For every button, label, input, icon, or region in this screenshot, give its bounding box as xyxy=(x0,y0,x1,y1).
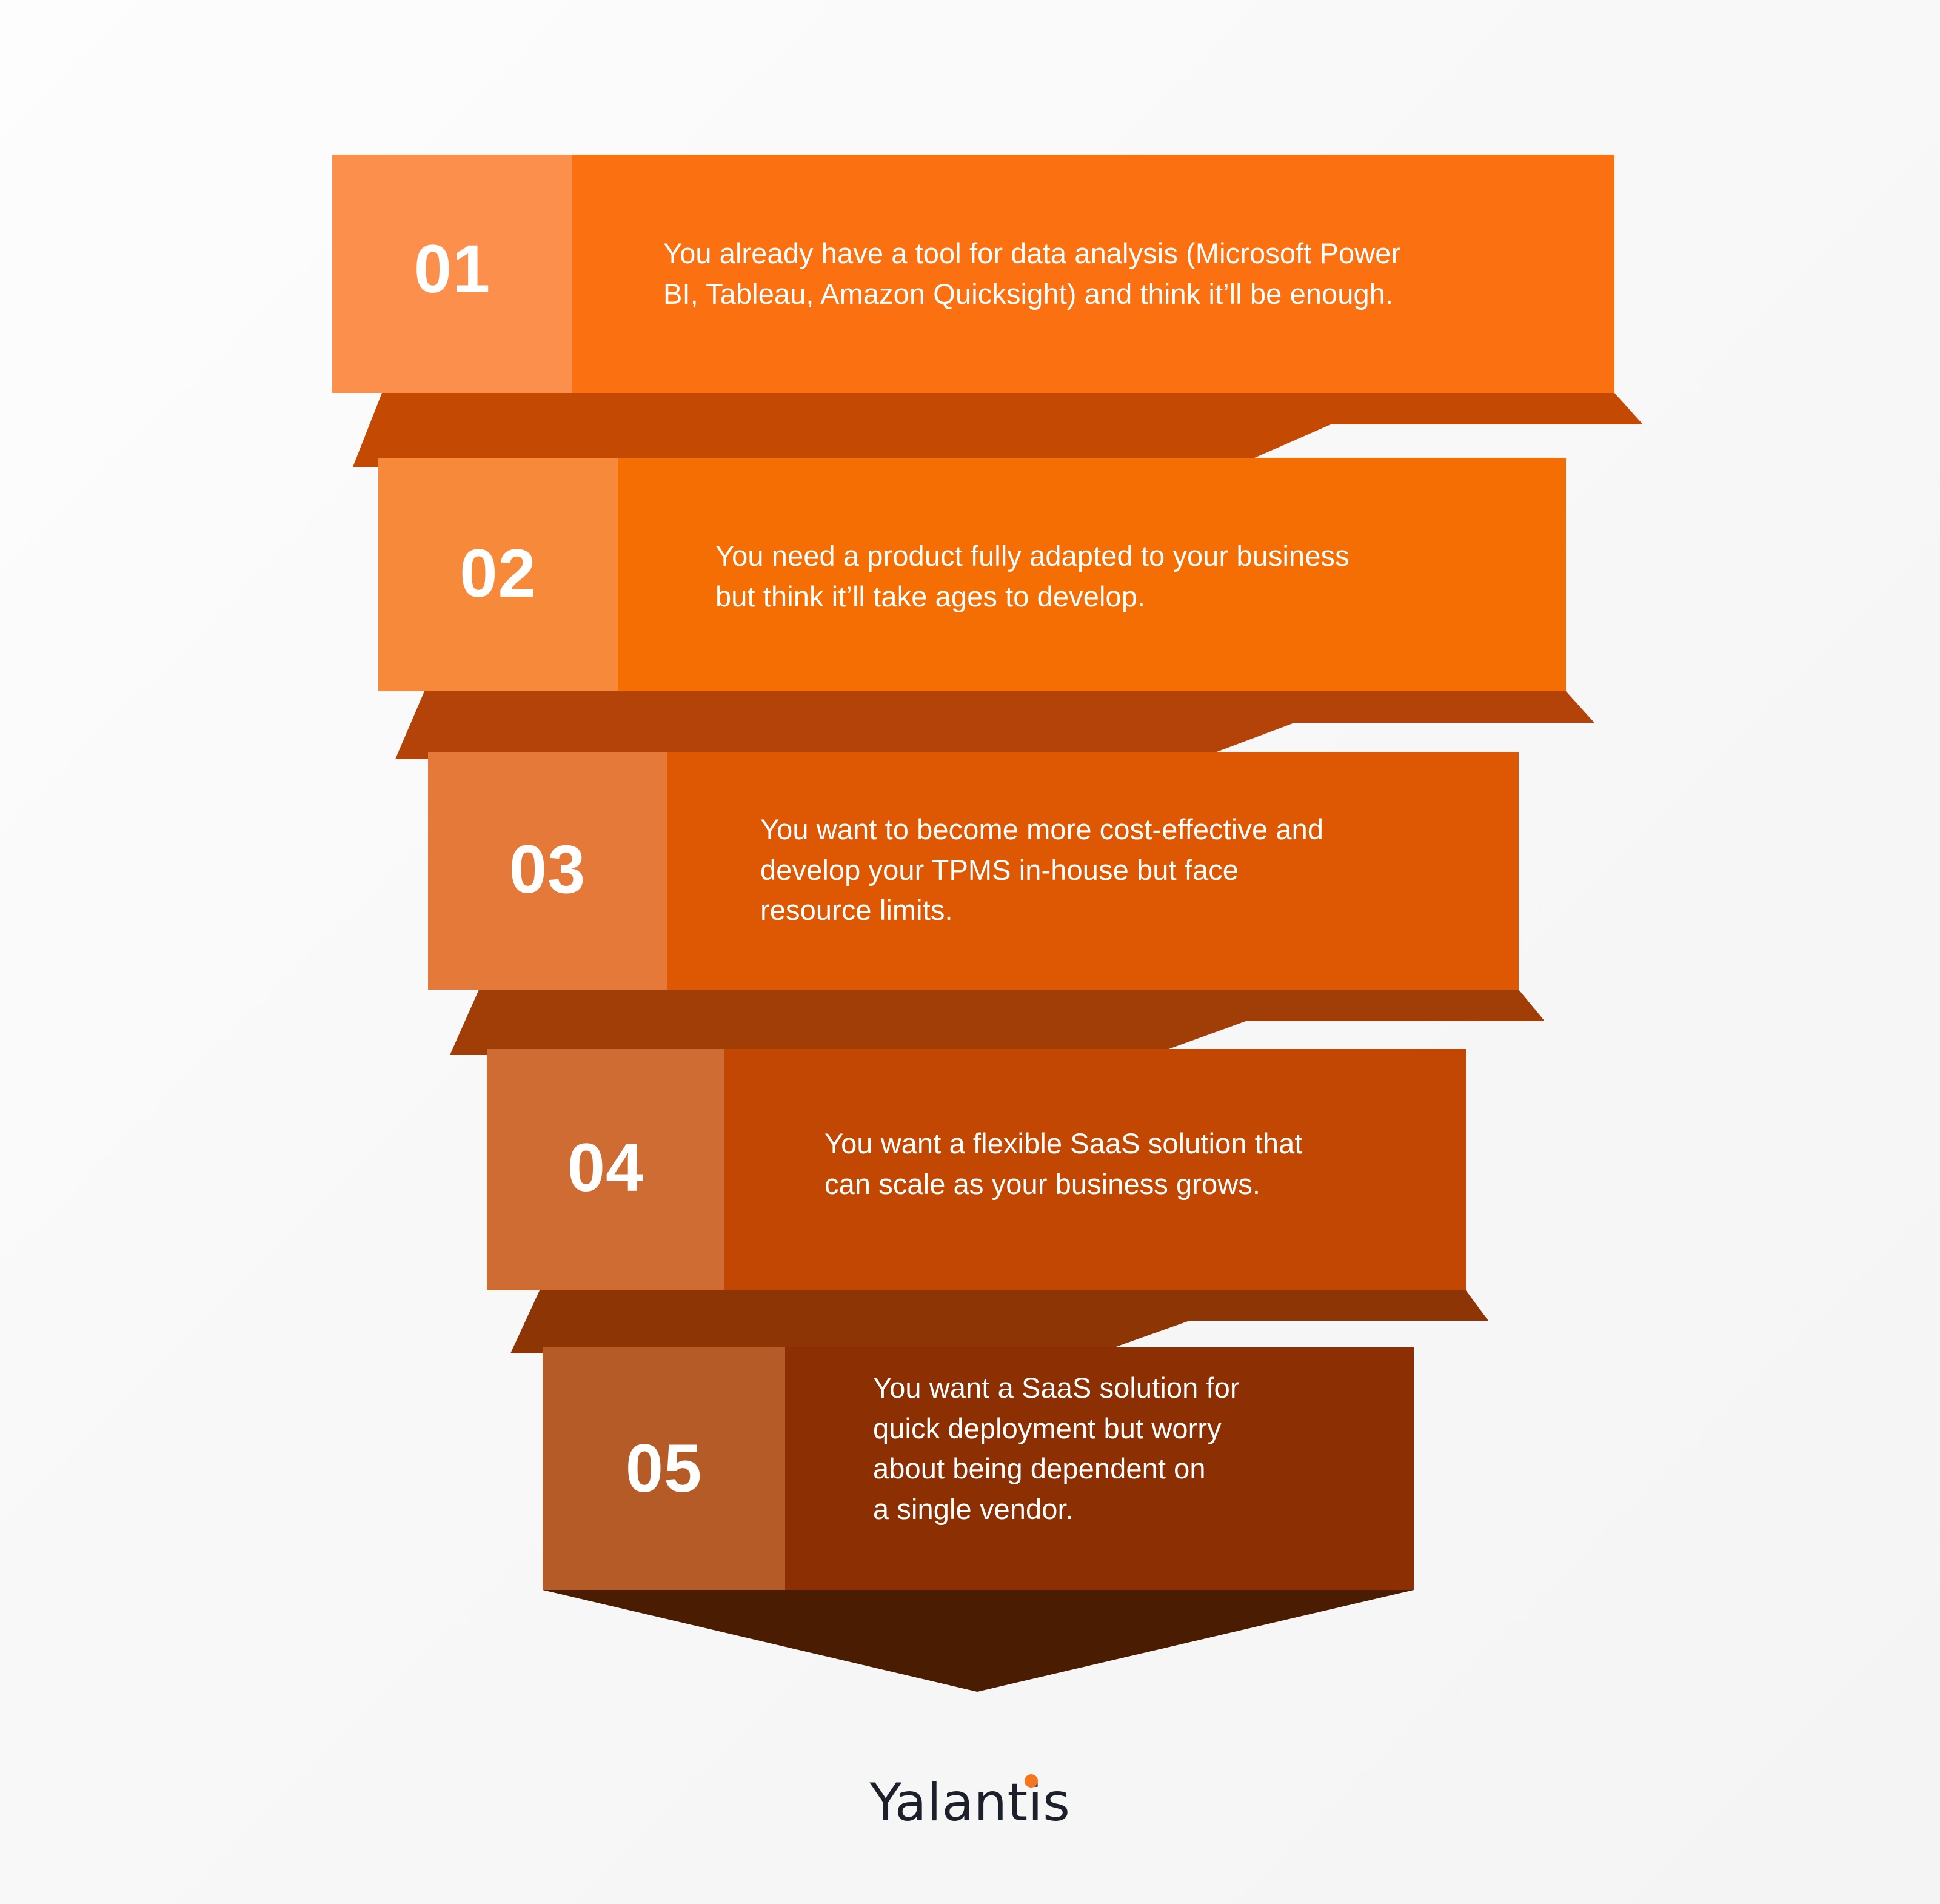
segment-4-text: You want a flexible SaaS solution that c… xyxy=(824,1124,1467,1204)
segment-3-number: 03 xyxy=(428,836,667,903)
segment-4-number: 04 xyxy=(487,1134,724,1202)
segment-5-tip xyxy=(543,1590,1414,1692)
infographic-page: 01 You already have a tool for data anal… xyxy=(0,0,1940,1904)
logo-wordmark-wrap: Yalantis xyxy=(870,1777,1071,1829)
segment-2-shelf xyxy=(395,691,1594,759)
segment-2-text: You need a product fully adapted to your… xyxy=(715,536,1558,617)
segment-3-text: You want to become more cost-effective a… xyxy=(760,810,1518,931)
segment-4-shelf xyxy=(510,1290,1488,1353)
segment-3-shelf xyxy=(450,990,1545,1055)
segment-1-number: 01 xyxy=(332,235,572,303)
segment-5-number: 05 xyxy=(543,1435,785,1503)
segment-2-number: 02 xyxy=(378,540,618,608)
segment-1-text: You already have a tool for data analysi… xyxy=(663,233,1585,314)
logo-wordmark: Yalantis xyxy=(870,1772,1071,1833)
segment-5-text: You want a SaaS solution for quick deplo… xyxy=(873,1368,1419,1530)
segment-1-shelf xyxy=(353,393,1643,467)
brand-logo: Yalantis xyxy=(0,1777,1940,1829)
